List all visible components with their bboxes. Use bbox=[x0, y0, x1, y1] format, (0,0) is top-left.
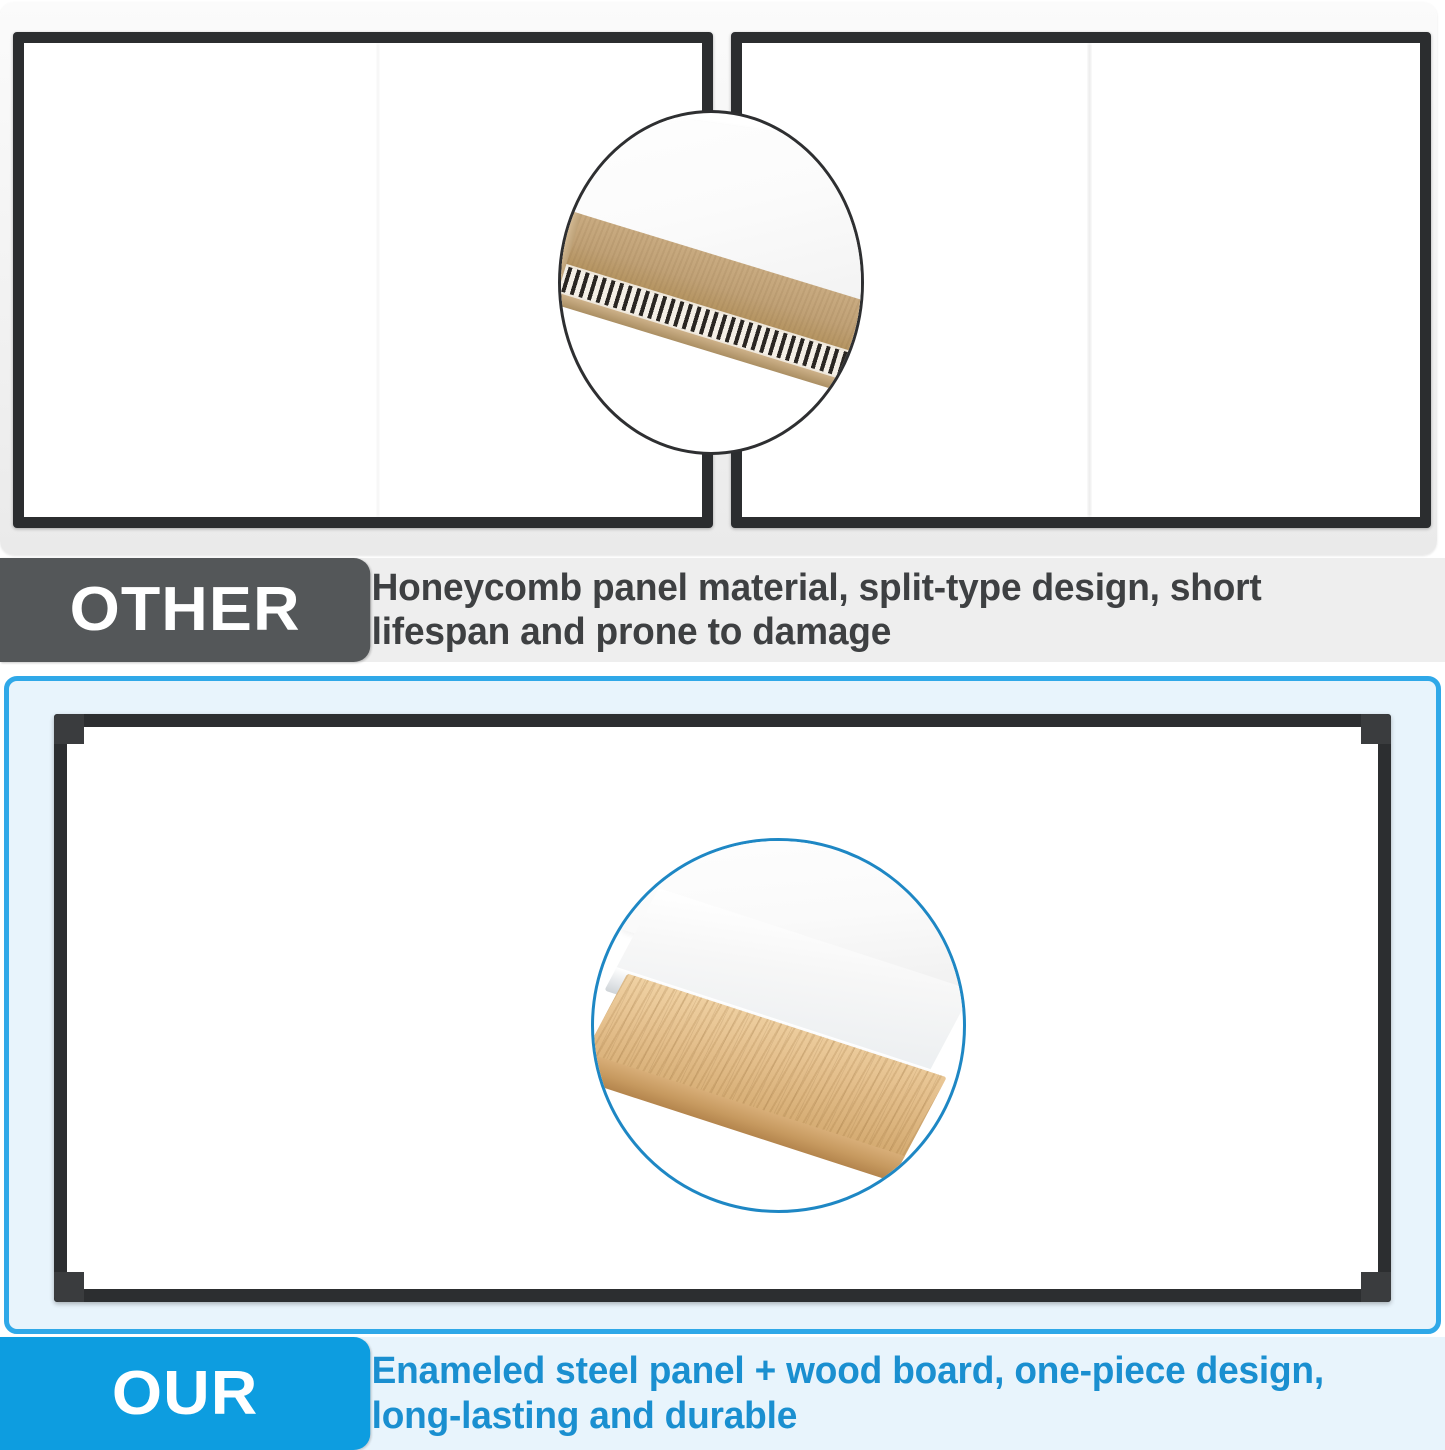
panel-seam-line bbox=[1087, 43, 1092, 517]
frame-corner-bracket bbox=[1361, 1272, 1391, 1302]
other-whiteboard bbox=[0, 2, 1437, 555]
frame-corner-bracket bbox=[1361, 714, 1391, 744]
honeycomb-magnifier-circle bbox=[558, 110, 864, 455]
our-product-section bbox=[4, 676, 1441, 1334]
frame-corner-bracket bbox=[54, 714, 84, 744]
our-caption-row: OUR Enameled steel panel + wood board, o… bbox=[0, 1337, 1445, 1450]
our-caption-text: Enameled steel panel + wood board, one-p… bbox=[356, 1337, 1418, 1450]
layered-construction-magnifier-circle bbox=[591, 838, 966, 1213]
other-badge: OTHER bbox=[0, 558, 370, 662]
frame-corner-bracket bbox=[54, 1272, 84, 1302]
other-caption-row: OTHER Honeycomb panel material, split-ty… bbox=[0, 558, 1445, 662]
our-badge: OUR bbox=[0, 1337, 370, 1450]
other-product-section: OTHER Honeycomb panel material, split-ty… bbox=[0, 0, 1445, 662]
our-whiteboard bbox=[54, 714, 1391, 1302]
other-caption-text: Honeycomb panel material, split-type des… bbox=[356, 558, 1418, 662]
panel-seam-line bbox=[376, 43, 380, 517]
